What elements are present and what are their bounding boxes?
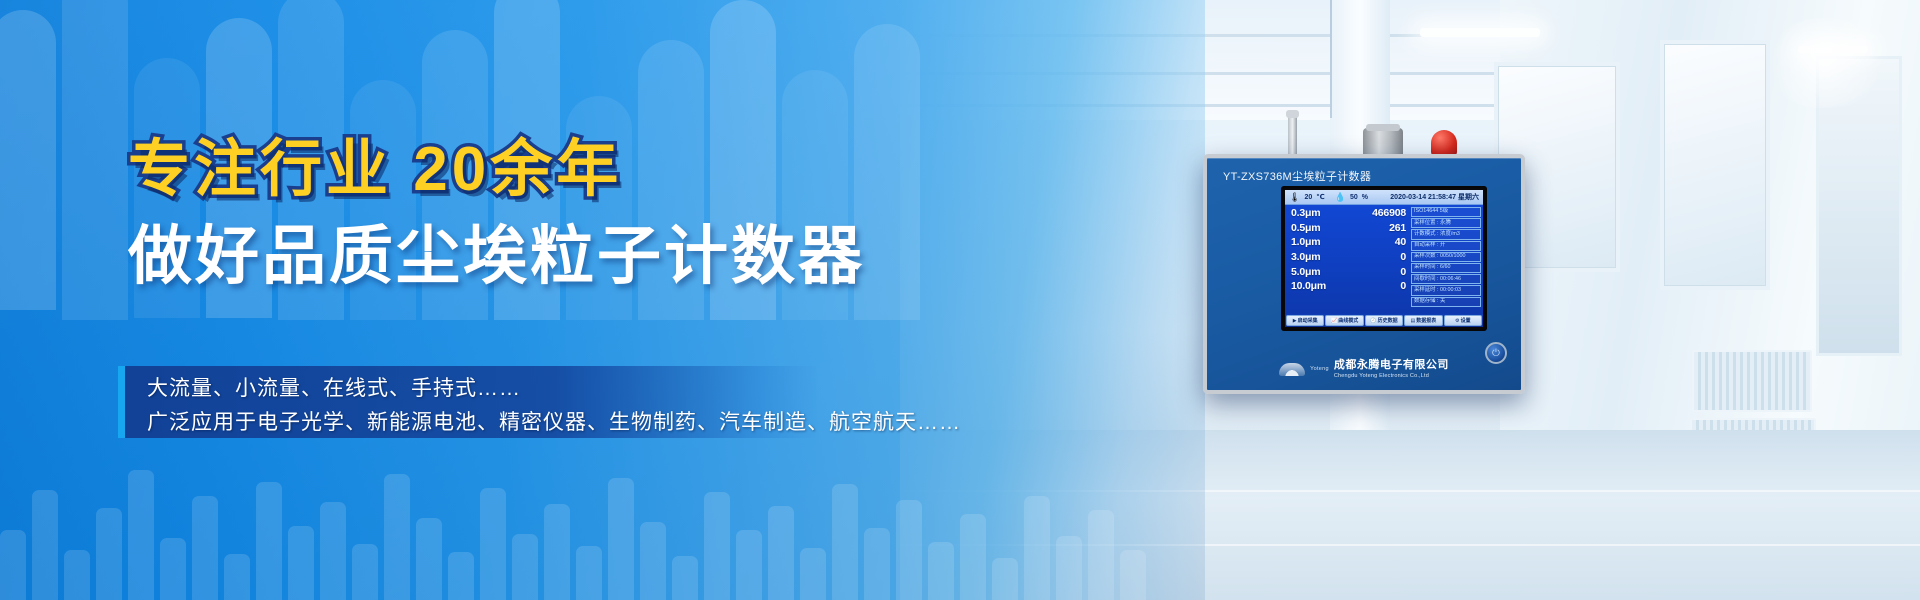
- info-line-2: 广泛应用于电子光学、新能源电池、精密仪器、生物制药、汽车制造、航空航天……: [147, 406, 961, 436]
- button-label: 启动采集: [1298, 317, 1318, 324]
- curve-mode-button[interactable]: 📈 曲线模式: [1325, 315, 1363, 326]
- button-label: 数据报表: [1416, 317, 1436, 324]
- info-row: 间歇时间 : 00:06:46: [1411, 274, 1481, 284]
- particle-table: 0.3μm 466908 0.5μm 261 1.0μm 40: [1285, 205, 1411, 314]
- info-row: 采样位置 : 永腾: [1411, 218, 1481, 228]
- screen-button-bar: ▶ 启动采集 📈 曲线模式 🕘 历史数据 ▤: [1285, 314, 1483, 327]
- screen-main-area: 0.3μm 466908 0.5μm 261 1.0μm 40: [1285, 205, 1483, 314]
- button-label: 曲线模式: [1338, 317, 1358, 324]
- screen-status-bar: 🌡 20 ℃ 💧 50 % 2020-03-14 21:58:47 星期六: [1285, 190, 1483, 205]
- window: [1660, 40, 1770, 290]
- brand-names: 成都永腾电子有限公司 Chengdu Yoteng Electronics Co…: [1334, 359, 1449, 380]
- button-label: 设置: [1461, 317, 1471, 324]
- info-row: 数据存储 : 关: [1411, 297, 1481, 307]
- table-row: 0.5μm 261: [1291, 223, 1406, 234]
- info-row: 采样时间 : 6/60: [1411, 263, 1481, 273]
- particle-size: 1.0μm: [1291, 237, 1320, 248]
- particle-size: 0.5μm: [1291, 223, 1320, 234]
- ceiling-lamp: [1420, 28, 1540, 37]
- ceiling-cable: [1330, 0, 1332, 118]
- particle-counter-device: YT-ZXS736M尘埃粒子计数器 🌡 20 ℃ 💧 50 % 2020-03-…: [1203, 154, 1525, 394]
- water-drop-icon: 💧: [1335, 193, 1346, 202]
- light-glow: [1760, 18, 1890, 108]
- particle-count: 261: [1389, 223, 1406, 234]
- brand-name-cn: 成都永腾电子有限公司: [1334, 359, 1449, 373]
- sample-inlet-icon: [1363, 128, 1403, 156]
- table-row: 1.0μm 40: [1291, 237, 1406, 248]
- blue-gradient-overlay: [0, 0, 1205, 600]
- info-line-1: 大流量、小流量、在线式、手持式……: [147, 372, 521, 402]
- data-report-button[interactable]: ▤ 数据报表: [1404, 315, 1442, 326]
- sample-inlet-top-icon: [1366, 124, 1400, 131]
- alarm-beacon-icon: [1431, 130, 1457, 156]
- particle-count: 466908: [1372, 208, 1406, 219]
- particle-size: 5.0μm: [1291, 267, 1320, 278]
- particle-count: 0: [1400, 281, 1406, 292]
- chart-icon: 📈: [1331, 318, 1337, 324]
- vent: [1692, 350, 1812, 412]
- particle-count: 0: [1400, 252, 1406, 263]
- particle-size: 0.3μm: [1291, 208, 1320, 219]
- particle-count: 40: [1395, 237, 1406, 248]
- humidity-unit: %: [1362, 194, 1368, 201]
- particle-count: 0: [1400, 267, 1406, 278]
- power-button[interactable]: ⏻: [1485, 342, 1507, 364]
- play-icon: ▶: [1293, 318, 1297, 324]
- temperature-value: 20: [1304, 194, 1312, 201]
- humidity-value: 50: [1350, 194, 1358, 201]
- brand-name-en: Chengdu Yoteng Electronics Co.,Ltd: [1334, 373, 1449, 380]
- info-row: 采样次数 : 0050/1000: [1411, 252, 1481, 262]
- screen-info-panel: ISO14644 5级 采样位置 : 永腾 计数模式 : 浓度/m3 自动采样 …: [1411, 205, 1483, 314]
- probe-antenna-icon: [1288, 114, 1297, 158]
- decorative-bars-bottom: [0, 440, 1180, 600]
- company-logo-icon: [1279, 363, 1305, 376]
- power-icon: ⏻: [1492, 348, 1500, 359]
- device-model-label: YT-ZXS736M尘埃粒子计数器: [1223, 168, 1371, 184]
- device-branding: Yoteng 成都永腾电子有限公司 Chengdu Yoteng Electro…: [1207, 359, 1521, 380]
- gear-icon: ⚙: [1455, 318, 1459, 324]
- headline-secondary: 做好品质尘埃粒子计数器: [128, 205, 865, 297]
- info-row: 采样延时 : 00:00:03: [1411, 285, 1481, 295]
- datetime-label: 2020-03-14 21:58:47 星期六: [1390, 192, 1479, 202]
- history-icon: 🕘: [1370, 318, 1376, 324]
- info-row: 计数模式 : 浓度/m3: [1411, 229, 1481, 239]
- brand-text-stack: Yoteng: [1310, 366, 1329, 373]
- brand-logo-text: Yoteng: [1310, 366, 1329, 373]
- table-row: 10.0μm 0: [1291, 281, 1406, 292]
- table-row: 5.0μm 0: [1291, 267, 1406, 278]
- particle-size: 3.0μm: [1291, 252, 1320, 263]
- thermometer-icon: 🌡: [1289, 193, 1300, 202]
- table-row: 3.0μm 0: [1291, 252, 1406, 263]
- probe-cap-icon: [1286, 110, 1299, 118]
- particle-size: 10.0μm: [1291, 281, 1326, 292]
- history-data-button[interactable]: 🕘 历史数据: [1365, 315, 1403, 326]
- banner-stage: 专注行业 20余年 做好品质尘埃粒子计数器 大流量、小流量、在线式、手持式…… …: [0, 0, 1920, 600]
- device-body: YT-ZXS736M尘埃粒子计数器 🌡 20 ℃ 💧 50 % 2020-03-…: [1203, 154, 1525, 394]
- start-sampling-button[interactable]: ▶ 启动采集: [1286, 315, 1324, 326]
- info-row: ISO14644 5级: [1411, 207, 1481, 217]
- info-row: 自动采样 : 开: [1411, 241, 1481, 251]
- table-row: 0.3μm 466908: [1291, 208, 1406, 219]
- temperature-unit: ℃: [1316, 193, 1324, 201]
- lcd-screen[interactable]: 🌡 20 ℃ 💧 50 % 2020-03-14 21:58:47 星期六 0.…: [1285, 190, 1483, 327]
- table-icon: ▤: [1411, 318, 1416, 324]
- button-label: 历史数据: [1378, 317, 1398, 324]
- screen-bezel: 🌡 20 ℃ 💧 50 % 2020-03-14 21:58:47 星期六 0.…: [1281, 186, 1487, 331]
- headline-primary: 专注行业 20余年: [128, 118, 622, 208]
- info-panel: 大流量、小流量、在线式、手持式…… 广泛应用于电子光学、新能源电池、精密仪器、生…: [118, 366, 818, 438]
- settings-button[interactable]: ⚙ 设置: [1444, 315, 1482, 326]
